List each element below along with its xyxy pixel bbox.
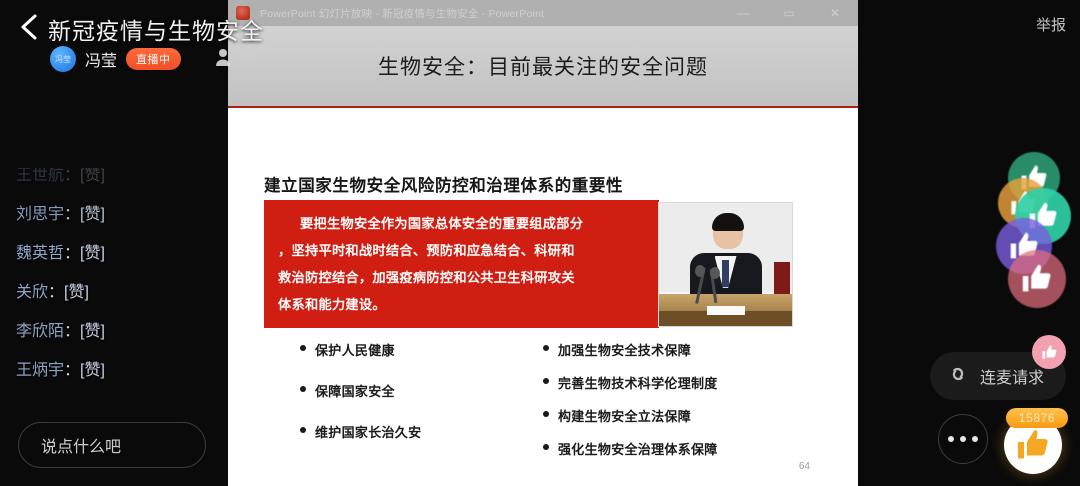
bullet-text: 维护国家长治久安 [315,422,421,441]
bullet-text: 构建生物安全立法保障 [558,406,691,425]
window-buttons: — ▭ ✕ [720,0,858,26]
bullet-icon [300,427,306,433]
list-item: 维护国家长治久安 [300,422,421,441]
window-titlebar[interactable]: PowerPoint 幻灯片放映 - 新冠疫情与生物安全 - PowerPoin… [228,0,858,26]
bullet-column-left: 保护人民健康 保障国家安全 维护国家长治久安 [300,340,421,463]
slide-header-title: 生物安全：目前最关注的安全问题 [378,51,708,81]
list-item: 魏英哲：[赞] [16,246,212,262]
mic-request-badge-icon[interactable] [1032,335,1066,369]
floating-likes [960,150,1070,340]
bullet-text: 加强生物安全技术保障 [558,340,691,359]
mic-request-label: 连麦请求 [980,364,1044,388]
avatar-label: 冯莹 [55,54,71,65]
more-options-button[interactable] [938,414,988,464]
ellipsis-icon [948,436,954,442]
bullet-text: 强化生物安全治理体系保障 [558,439,718,458]
viewer-count: 860 [237,49,262,66]
viewer-count-box: 860 [215,48,262,66]
list-item: 构建生物安全立法保障 [543,406,718,425]
quote-line: 救治防控结合，加强疫病防控和公共卫生科研攻关 [278,264,645,291]
bullet-column-right: 加强生物安全技术保障 完善生物技术科学伦理制度 构建生物安全立法保障 强化生物安… [543,340,718,472]
chat-text: [赞] [80,245,105,262]
list-item: 王炳宇：[赞] [16,363,212,379]
person-icon [215,48,231,66]
chat-text: [赞] [80,323,105,340]
live-title: 新冠疫情与生物安全 [48,12,264,46]
list-item: 王世航：[赞] [16,168,212,184]
chat-text: [赞] [80,362,105,379]
quote-line: ，坚持平时和战时结合、预防和应急结合、科研和 [278,237,645,264]
bullet-icon [543,411,549,417]
chat-input-placeholder: 说点什么吧 [41,433,121,457]
bullet-icon [300,345,306,351]
speaker-photo [658,202,793,327]
live-header: 新冠疫情与生物安全 冯莹 冯莹 直播中 860 [0,0,300,90]
list-item: 强化生物安全治理体系保障 [543,439,718,458]
list-item: 保障国家安全 [300,381,421,400]
maximize-button[interactable]: ▭ [766,0,812,26]
live-status-badge: 直播中 [126,48,181,70]
chat-nickname: 王世航 [16,168,64,184]
host-row[interactable]: 冯莹 冯莹 直播中 [50,46,181,72]
chat-text: [赞] [80,168,105,184]
slide-heading: 建立国家生物安全风险防控和治理体系的重要性 [264,172,623,196]
thumbs-up-icon [1015,427,1051,463]
chat-text: [赞] [64,284,89,301]
ellipsis-icon [972,436,978,442]
quote-line: 要把生物安全作为国家总体安全的重要组成部分 [278,210,645,237]
bullet-text: 保护人民健康 [315,340,395,359]
live-stream-screen: 新冠疫情与生物安全 冯莹 冯莹 直播中 860 举报 王世航：[赞] 刘思宇：[… [0,0,1080,486]
slide-header-bar: 生物安全：目前最关注的安全问题 [228,26,858,108]
chat-nickname: 王炳宇 [16,362,64,379]
like-count-badge: 15876 [1006,408,1068,428]
list-item: 关欣：[赞] [16,285,212,301]
like-count-value: 15876 [1019,411,1055,425]
report-button[interactable]: 举报 [1036,14,1066,35]
list-item: 加强生物安全技术保障 [543,340,718,359]
chat-message-list: 王世航：[赞] 刘思宇：[赞] 魏英哲：[赞] 关欣：[赞] 李欣陌：[赞] 王… [0,168,228,398]
list-item: 保护人民健康 [300,340,421,359]
back-icon[interactable] [16,12,42,42]
list-item: 刘思宇：[赞] [16,207,212,223]
thumbs-up-icon [1008,250,1066,308]
chat-nickname: 李欣陌 [16,323,64,340]
slide-number: 64 [799,461,810,472]
powerpoint-window: PowerPoint 幻灯片放映 - 新冠疫情与生物安全 - PowerPoin… [228,0,858,486]
bullet-icon [543,345,549,351]
bullet-text: 完善生物技术科学伦理制度 [558,373,718,392]
slide-body: 建立国家生物安全风险防控和治理体系的重要性 要把生物安全作为国家总体安全的重要组… [228,110,858,486]
chat-nickname: 魏英哲 [16,245,64,262]
avatar[interactable]: 冯莹 [50,46,76,72]
bullet-icon [543,444,549,450]
quote-box: 要把生物安全作为国家总体安全的重要组成部分 ，坚持平时和战时结合、预防和应急结合… [264,200,659,328]
bullet-icon [543,378,549,384]
chat-text: [赞] [80,206,105,223]
chat-input[interactable]: 说点什么吧 [18,422,206,468]
list-item: 完善生物技术科学伦理制度 [543,373,718,392]
close-button[interactable]: ✕ [812,0,858,26]
host-name: 冯莹 [85,47,117,71]
ellipsis-icon [960,436,966,442]
chat-nickname: 关欣 [16,284,48,301]
window-title: PowerPoint 幻灯片放映 - 新冠疫情与生物安全 - PowerPoin… [260,6,544,21]
link-chain-icon [946,362,970,391]
list-item: 李欣陌：[赞] [16,324,212,340]
bullet-icon [300,386,306,392]
bullet-text: 保障国家安全 [315,381,395,400]
minimize-button[interactable]: — [720,0,766,26]
chat-nickname: 刘思宇 [16,206,64,223]
quote-line: 体系和能力建设。 [278,291,645,318]
